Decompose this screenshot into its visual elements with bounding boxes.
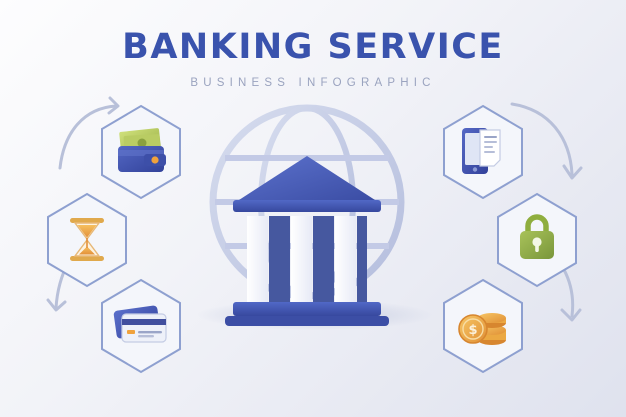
node-label-lock: Security padlock — [0, 0, 1, 1]
wallet-cash-icon — [98, 104, 184, 200]
hex-node-card[interactable] — [98, 278, 184, 374]
node-label-hourglass: Hourglass — [0, 0, 1, 1]
infographic-poster: BANKING SERVICE BUSINESS INFOGRAPHIC — [0, 0, 626, 417]
coin-stack-icon: $ — [440, 278, 526, 374]
center-illustration — [207, 104, 419, 334]
hourglass-icon — [44, 192, 130, 288]
page-title: BANKING SERVICE — [0, 30, 626, 65]
padlock-icon — [494, 192, 580, 288]
hex-node-hourglass[interactable] — [44, 192, 130, 288]
bank-building-icon — [225, 156, 389, 326]
title-block: BANKING SERVICE BUSINESS INFOGRAPHIC — [0, 30, 626, 89]
node-label-coins: Stack of coins — [0, 0, 1, 1]
mobile-payment-icon — [440, 104, 526, 200]
hex-node-mobile[interactable] — [440, 104, 526, 200]
hex-node-coins[interactable]: $ — [440, 278, 526, 374]
page-subtitle: BUSINESS INFOGRAPHIC — [0, 77, 626, 89]
svg-text:$: $ — [468, 323, 477, 338]
hex-node-wallet[interactable] — [98, 104, 184, 200]
hex-node-lock[interactable] — [494, 192, 580, 288]
node-label-card: Credit cards — [0, 0, 1, 1]
node-label-mobile: Mobile banking — [0, 0, 1, 1]
node-label-wallet: Wallet with cash — [0, 0, 1, 1]
credit-card-icon — [98, 278, 184, 374]
